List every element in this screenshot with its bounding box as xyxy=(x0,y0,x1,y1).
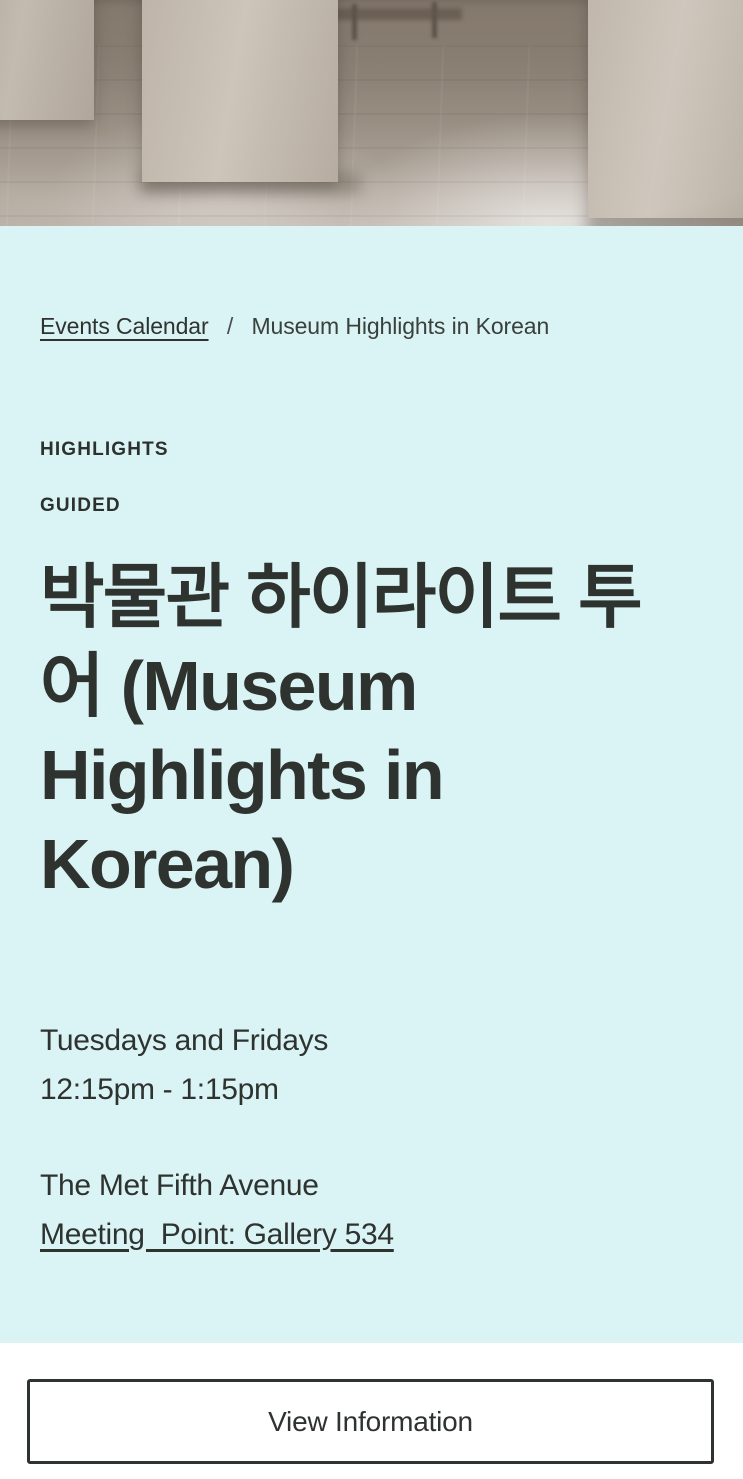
event-info-panel: Events Calendar / Museum Highlights in K… xyxy=(0,226,743,1343)
event-detail-page: Events Calendar / Museum Highlights in K… xyxy=(0,0,743,1479)
location-venue: The Met Fifth Avenue xyxy=(40,1162,394,1211)
breadcrumb: Events Calendar / Museum Highlights in K… xyxy=(40,313,549,340)
event-schedule: Tuesdays and Fridays 12:15pm - 1:15pm xyxy=(40,1017,328,1114)
breadcrumb-separator: / xyxy=(215,313,245,340)
page-title: 박물관 하이라이트 투어 (Museum Highlights in Korea… xyxy=(40,553,680,909)
meeting-point-link[interactable]: Meeting Point: Gallery 534 xyxy=(40,1218,394,1251)
breadcrumb-current-page: Museum Highlights in Korean xyxy=(251,313,549,339)
event-location: The Met Fifth Avenue Meeting Point: Gall… xyxy=(40,1162,394,1259)
category-tag-guided[interactable]: GUIDED xyxy=(40,495,121,517)
cta-footer: View Information xyxy=(0,1343,743,1479)
hero-vignette xyxy=(0,0,743,226)
category-tag-highlights[interactable]: HIGHLIGHTS xyxy=(40,439,169,461)
hero-image xyxy=(0,0,743,226)
view-information-button[interactable]: View Information xyxy=(27,1379,714,1464)
schedule-days: Tuesdays and Fridays xyxy=(40,1017,328,1066)
schedule-time: 12:15pm - 1:15pm xyxy=(40,1066,328,1115)
breadcrumb-link-events-calendar[interactable]: Events Calendar xyxy=(40,313,209,339)
